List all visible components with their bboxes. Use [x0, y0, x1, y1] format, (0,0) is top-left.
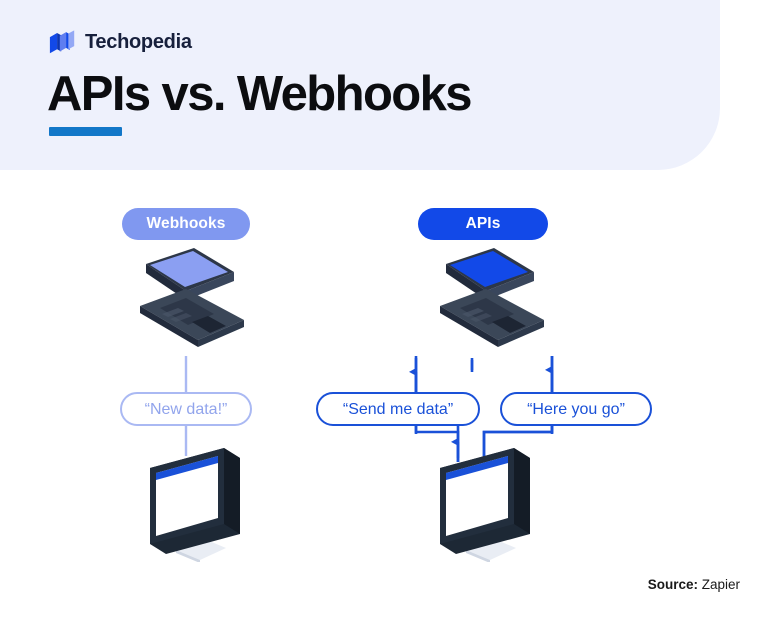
message-bubble-here-you-go: “Here you go”: [500, 392, 652, 426]
column-badge-webhooks: Webhooks: [122, 208, 250, 240]
page-title: APIs vs. Webhooks: [47, 66, 471, 122]
title-accent-bar: [49, 127, 122, 136]
techopedia-logo-icon: [49, 29, 76, 56]
source-label: Source:: [648, 577, 698, 592]
apis-laptop-illustration: [428, 246, 548, 358]
brand-logo: Techopedia: [49, 29, 192, 56]
apis-monitor-illustration: [434, 446, 538, 562]
webhooks-laptop-illustration: [128, 246, 248, 358]
source-value: Zapier: [702, 577, 740, 592]
column-badge-apis: APIs: [418, 208, 548, 240]
infographic-canvas: Techopedia APIs vs. Webhooks: [0, 0, 768, 620]
brand-name: Techopedia: [85, 31, 192, 54]
source-attribution: Source: Zapier: [648, 577, 740, 592]
diagram-area: Webhooks APIs: [0, 170, 768, 620]
webhooks-monitor-illustration: [144, 446, 248, 562]
message-bubble-new-data: “New data!”: [120, 392, 252, 426]
message-bubble-send-me-data: “Send me data”: [316, 392, 480, 426]
